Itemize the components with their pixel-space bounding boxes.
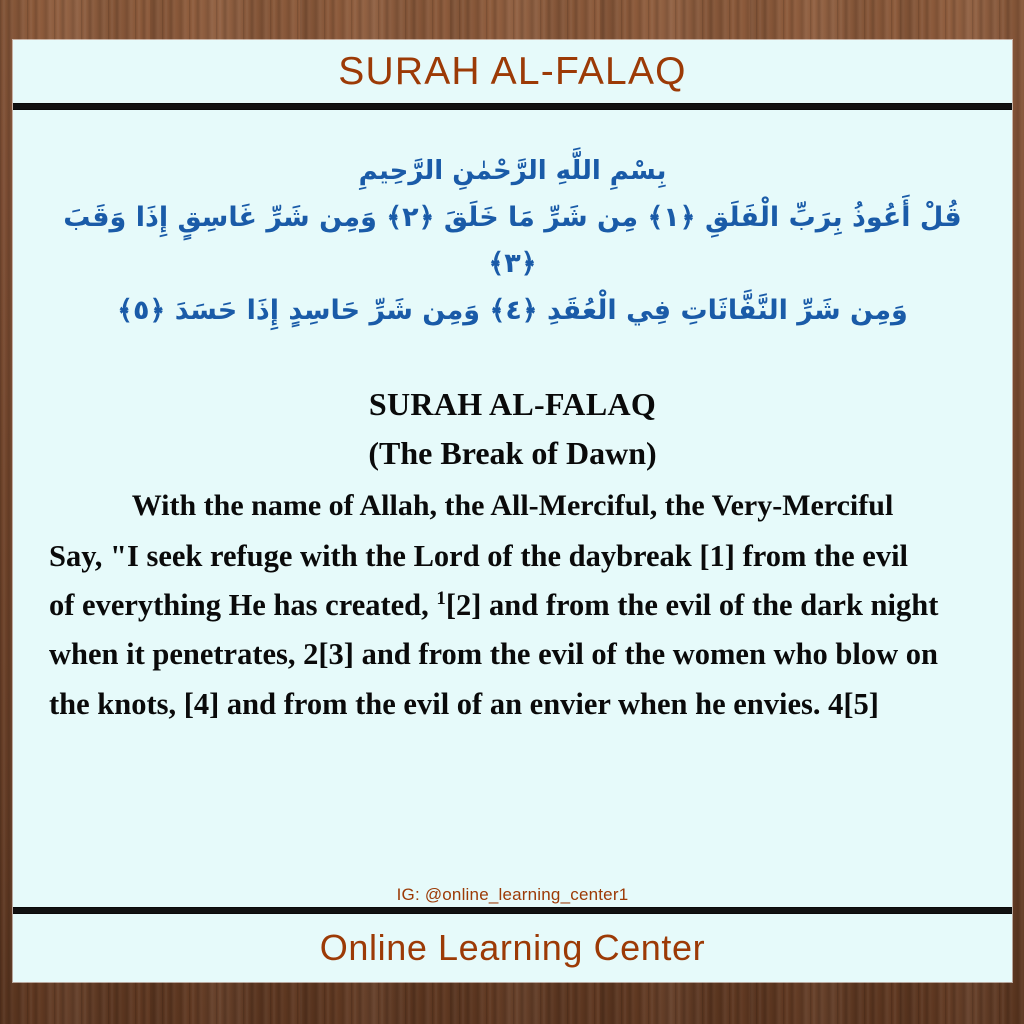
wood-frame: SURAH AL-FALAQ بِسْمِ اللَّهِ الرَّحْمٰن… [0, 0, 1024, 1024]
translation-line-3: when it penetrates, 2[3] and from the ev… [49, 630, 976, 679]
english-translation: Say, "I seek refuge with the Lord of the… [49, 532, 976, 730]
header-divider [13, 103, 1012, 110]
header-band: SURAH AL-FALAQ [13, 40, 1012, 103]
translation-line-2-part-a: of everything He has created, [49, 588, 436, 622]
arabic-verses-line-2: وَمِن شَرِّ النَّفَّاثَاتِ فِي الْعُقَدِ… [37, 288, 988, 334]
english-section: SURAH AL-FALAQ (The Break of Dawn) With … [13, 380, 1012, 729]
arabic-section: بِسْمِ اللَّهِ الرَّحْمٰنِ الرَّحِيمِ قُ… [13, 110, 1012, 334]
footer-band: Online Learning Center [13, 914, 1012, 982]
brand-name: Online Learning Center [320, 927, 705, 969]
arabic-basmala: بِسْمِ اللَّهِ الرَّحْمٰنِ الرَّحِيمِ [37, 152, 988, 191]
english-surah-title: SURAH AL-FALAQ [49, 380, 976, 429]
translation-line-4: the knots, [4] and from the evil of an e… [49, 680, 976, 729]
content-card: SURAH AL-FALAQ بِسْمِ اللَّهِ الرَّحْمٰن… [13, 40, 1012, 982]
page-title: SURAH AL-FALAQ [338, 50, 686, 94]
translation-line-1: Say, "I seek refuge with the Lord of the… [49, 532, 976, 581]
footnote-marker-1: 1 [436, 588, 445, 609]
translation-line-2-part-b: [2] and from the evil of the dark night [446, 588, 939, 622]
english-surah-subtitle: (The Break of Dawn) [49, 429, 976, 478]
content-body: بِسْمِ اللَّهِ الرَّحْمٰنِ الرَّحِيمِ قُ… [13, 110, 1012, 885]
english-bismillah-translation: With the name of Allah, the All-Merciful… [49, 482, 976, 530]
footer-divider [13, 907, 1012, 914]
instagram-handle: IG: @online_learning_center1 [13, 885, 1012, 907]
translation-line-2: of everything He has created, 1[2] and f… [49, 581, 976, 630]
arabic-verses-line-1: قُلْ أَعُوذُ بِرَبِّ الْفَلَقِ ﴿١﴾ مِن ش… [37, 195, 988, 288]
